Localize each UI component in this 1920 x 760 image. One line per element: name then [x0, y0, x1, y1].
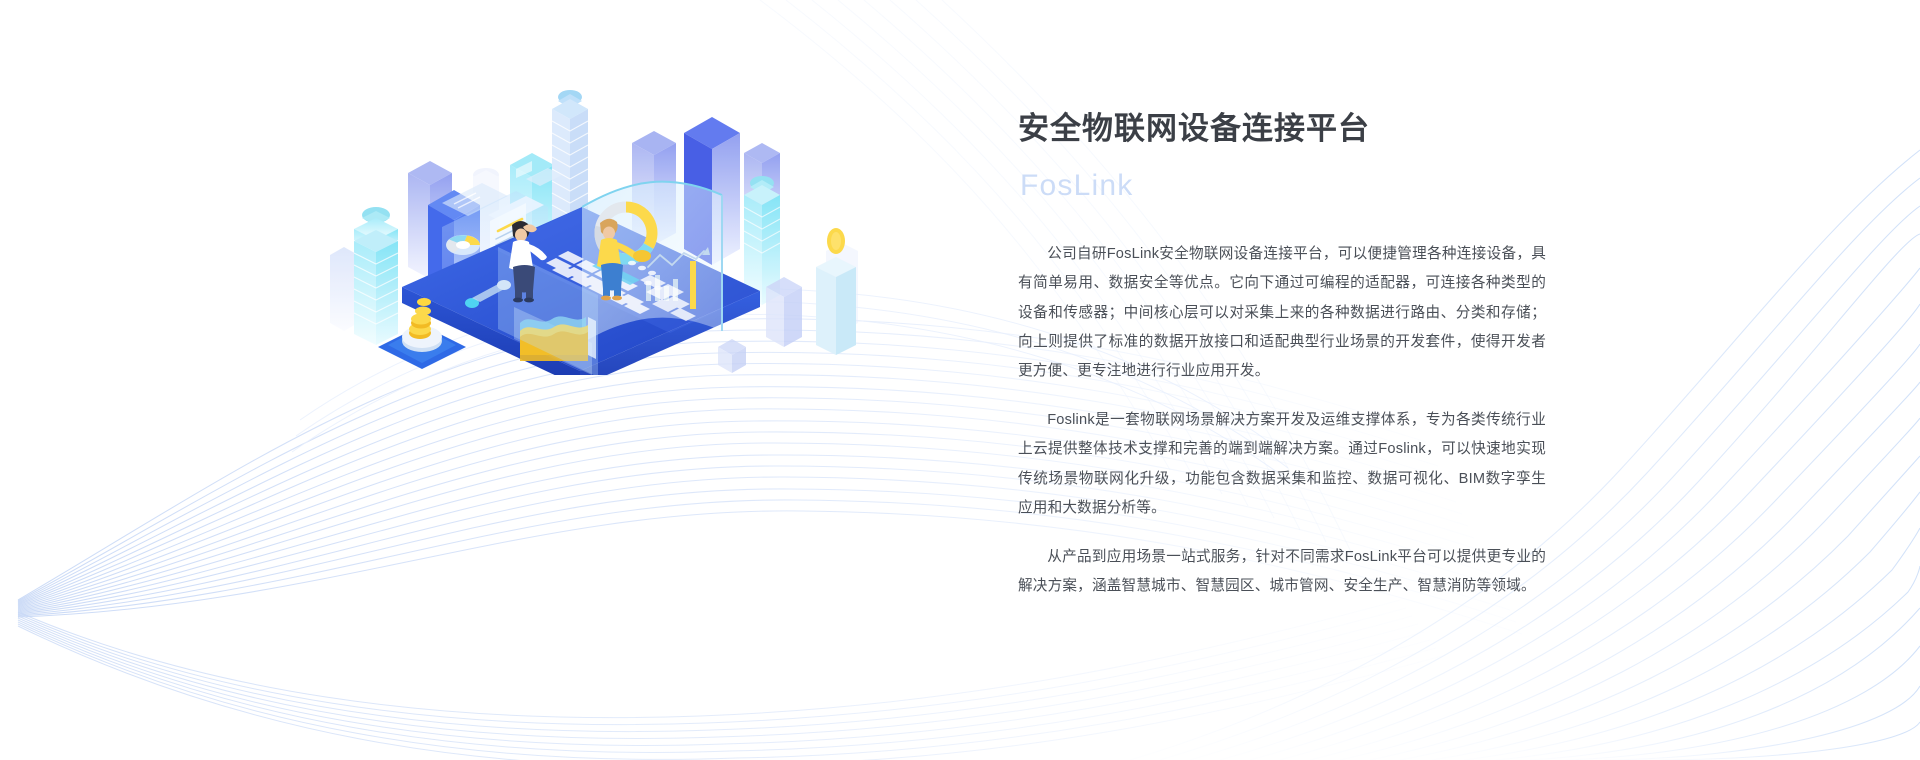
pie-chart-widget-small	[446, 235, 480, 255]
body-paragraph-3: 从产品到应用场景一站式服务，针对不同需求FosLink平台可以提供更专业的解决方…	[1018, 543, 1546, 601]
body-paragraph-2: Foslink是一套物联网场景解决方案开发及运维支撑体系，专为各类传统行业上云提…	[1018, 406, 1546, 523]
body-paragraph-1: 公司自研FosLink安全物联网设备连接平台，可以便捷管理各种连接设备，具有简单…	[1018, 240, 1546, 386]
page-subtitle: FosLink	[1020, 167, 1558, 205]
isometric-city-illustration	[330, 55, 870, 375]
page-title: 安全物联网设备连接平台	[1018, 110, 1558, 149]
hero-text-column: 安全物联网设备连接平台 FosLink 公司自研FosLink安全物联网设备连接…	[1018, 110, 1558, 601]
stepped-tower-left	[354, 207, 398, 345]
hero-body-text: 公司自研FosLink安全物联网设备连接平台，可以便捷管理各种连接设备，具有简单…	[1018, 240, 1558, 601]
background-wave-decoration	[0, 0, 1920, 760]
hero-page: 安全物联网设备连接平台 FosLink 公司自研FosLink安全物联网设备连接…	[0, 0, 1920, 760]
